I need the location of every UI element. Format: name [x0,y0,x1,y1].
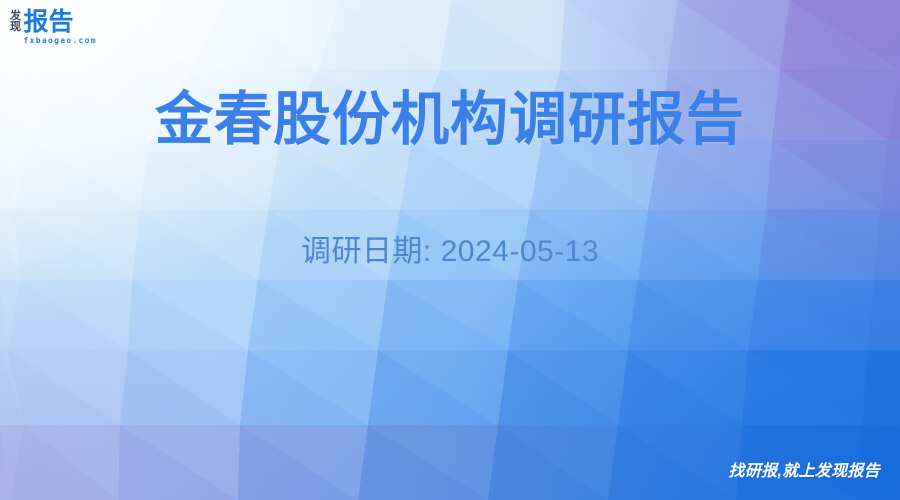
footer-tagline: 找研报,就上发现报告 [729,462,880,482]
headline-block: 金春股份机构调研报告 [0,84,900,156]
logo-mark-characters: 发 现 [10,9,21,33]
logo-url: fxbaogao.com [24,36,97,46]
fxbaogao-logo[interactable]: 发 现 报告 fxbaogao.com [10,9,114,53]
logo-mark-char-2: 现 [10,22,21,33]
logo-wordmark-group: 报告 fxbaogao.com [24,9,97,46]
page-title: 金春股份机构调研报告 [0,84,900,156]
logo-wordmark: 报告 [24,9,97,35]
survey-date-subtitle: 调研日期: 2024-05-13 [0,232,900,272]
report-cover: 发 现 报告 fxbaogao.com 金春股份机构调研报告 调研日期: 202… [0,0,900,500]
